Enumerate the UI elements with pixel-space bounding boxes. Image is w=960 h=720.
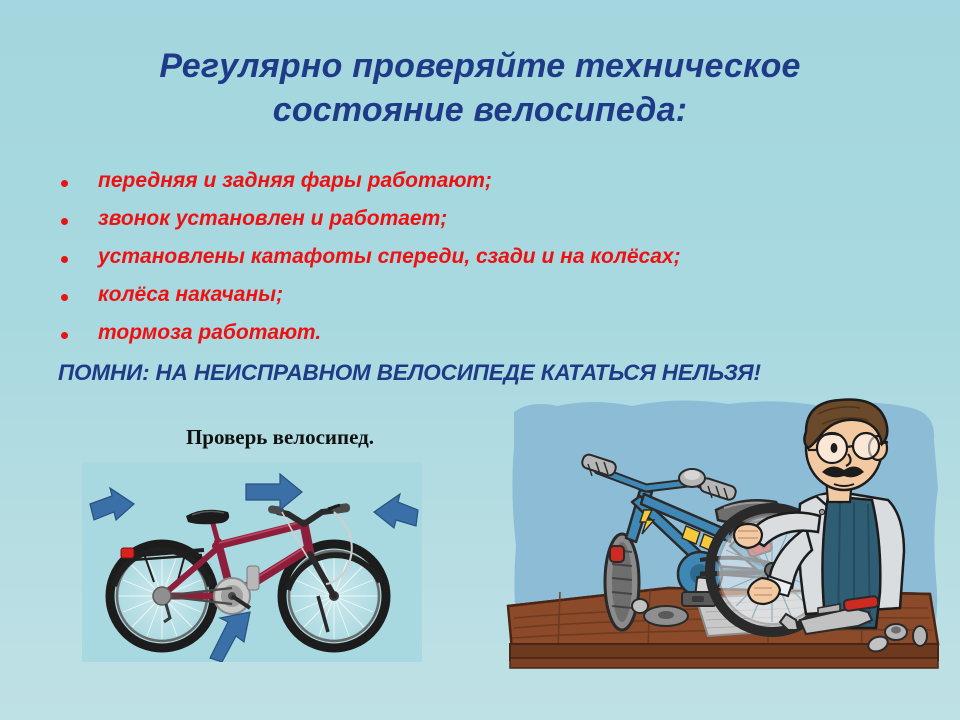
bolt	[632, 599, 648, 613]
slide-root: Регулярно проверяйте техническое состоян…	[0, 0, 960, 720]
eye	[831, 443, 838, 453]
page-title-line-2: состояние велосипеда:	[70, 88, 890, 132]
rear-reflector	[121, 548, 134, 558]
list-item-label: установлены катафоты спереди, сзади и на…	[98, 242, 946, 272]
bullet-dot-icon	[61, 180, 68, 187]
hand-upper	[734, 524, 762, 548]
list-item: тормоза работают.	[56, 318, 946, 356]
list-item: звонок установлен и работает;	[56, 204, 946, 242]
page-title: Регулярно проверяйте техническое состоян…	[70, 44, 890, 132]
bicycle-photo	[82, 462, 422, 662]
hand-lower	[748, 578, 780, 604]
page-title-line-1: Регулярно проверяйте техническое	[70, 44, 890, 88]
bullet-dot-icon	[61, 332, 68, 339]
front-reflector	[610, 546, 624, 562]
bullet-dot-icon	[61, 218, 68, 225]
list-item-label: колёса накачаны;	[98, 280, 946, 310]
checklist: передняя и задняя фары работают; звонок …	[56, 166, 946, 356]
bottle-holder	[247, 566, 259, 590]
repair-cartoon	[500, 392, 948, 704]
bullet-dot-icon	[61, 294, 68, 301]
list-item: установлены катафоты спереди, сзади и на…	[56, 242, 946, 280]
list-item: передняя и задняя фары работают;	[56, 166, 946, 204]
list-item-label: передняя и задняя фары работают;	[98, 166, 946, 196]
list-item-label: тормоза работают.	[98, 318, 946, 348]
list-item-label: звонок установлен и работает;	[98, 204, 946, 234]
bullet-dot-icon	[61, 256, 68, 263]
warning-text: ПОМНИ: НА НЕИСПРАВНОМ ВЕЛОСИПЕДЕ КАТАТЬС…	[58, 358, 948, 388]
photo-caption: Проверь велосипед.	[110, 424, 450, 450]
list-item: колёса накачаны;	[56, 280, 946, 318]
